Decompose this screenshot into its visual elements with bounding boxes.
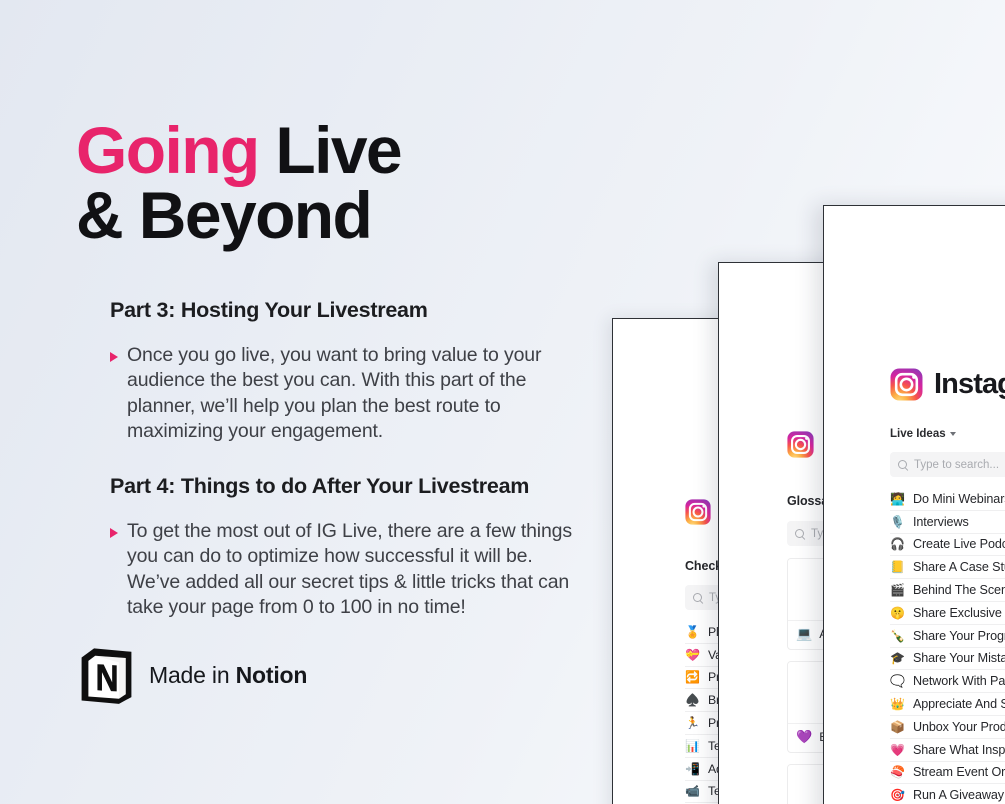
chevron-down-icon <box>950 432 956 436</box>
list-item-label: Stream Event Or Outing <box>913 765 1005 779</box>
list-item-label: Share What Inspires You <box>913 743 1005 757</box>
list-item[interactable]: 🗨️Network With Partners <box>890 670 1005 693</box>
instagram-icon <box>890 368 923 401</box>
list-item-label: Share Your Progress <box>913 629 1005 643</box>
list-item[interactable]: 🎙️Interviews <box>890 511 1005 534</box>
item-emoji-icon: 🏃 <box>685 717 700 729</box>
section-body-text: Once you go live, you want to bring valu… <box>127 343 587 445</box>
item-emoji-icon: 💝 <box>685 649 700 661</box>
list-item-label: Run A Giveaway <box>913 788 1004 802</box>
item-emoji-icon: 📦 <box>890 721 905 733</box>
list-item[interactable]: 🎯Run A Giveaway <box>890 784 1005 804</box>
notion-badge-prefix: Made in <box>149 662 236 688</box>
list-item[interactable]: 🎓Share Your Mistakes <box>890 648 1005 671</box>
list-item-label: Unbox Your Product <box>913 720 1005 734</box>
item-emoji-icon: 🎯 <box>890 789 905 801</box>
made-in-notion-badge: Made in Notion <box>78 645 307 705</box>
list-item[interactable]: 🎧Create Live Podcast <box>890 534 1005 557</box>
page-title-line-2: & Beyond <box>76 183 401 248</box>
page-title-rest: Live <box>259 113 401 187</box>
item-emoji-icon: 🎧 <box>890 538 905 550</box>
section-part-4: Part 4: Things to do After Your Livestre… <box>110 474 610 621</box>
item-emoji-icon: 🎙️ <box>890 516 905 528</box>
notion-logo-icon <box>78 645 135 705</box>
instagram-icon <box>685 499 711 525</box>
list-item-label: Interviews <box>913 515 969 529</box>
list-item[interactable]: 🤫Share Exclusive Content <box>890 602 1005 625</box>
page-title-accent-word: Going <box>76 113 259 187</box>
item-emoji-icon: 📹 <box>685 785 700 797</box>
triangle-bullet-icon <box>110 528 118 538</box>
left-content-column: Going Live & Beyond Part 3: Hosting Your… <box>0 0 620 804</box>
section-heading: Part 3: Hosting Your Livestream <box>110 298 610 324</box>
item-emoji-icon: ♠️ <box>685 694 700 706</box>
list-item[interactable]: 🎬Behind The Scenes <box>890 579 1005 602</box>
item-emoji-icon: 🍾 <box>890 630 905 642</box>
list-item-label: Network With Partners <box>913 674 1005 688</box>
item-emoji-icon: 📊 <box>685 740 700 752</box>
list-item[interactable]: 🍣Stream Event Or Outing <box>890 762 1005 785</box>
item-emoji-icon: 🧑‍💻 <box>890 493 905 505</box>
live-ideas-items: 🧑‍💻Do Mini Webinars 🎙️Interviews 🎧Create… <box>824 488 1005 804</box>
list-item[interactable]: 🧑‍💻Do Mini Webinars <box>890 488 1005 511</box>
instagram-icon <box>787 431 814 458</box>
notion-badge-text: Made in Notion <box>149 662 307 689</box>
item-emoji-icon: 🎬 <box>890 584 905 596</box>
gallery-item-emoji-icon: 💻 <box>796 626 812 642</box>
item-emoji-icon: 👑 <box>890 698 905 710</box>
list-item-label: Share Your Mistakes <box>913 651 1005 665</box>
list-item-label: Do Mini Webinars <box>913 492 1005 506</box>
poster-canvas: Checklist Type to search... 🏅Plan Your C… <box>0 0 1005 804</box>
live-ideas-search-input[interactable]: Type to search... <box>890 452 1005 477</box>
list-item[interactable]: 👑Appreciate And Share <box>890 693 1005 716</box>
gallery-item-emoji-icon: 💜 <box>796 729 812 745</box>
list-item[interactable]: 🍾Share Your Progress <box>890 625 1005 648</box>
database-name: Live Ideas <box>890 428 946 440</box>
list-item-label: Share A Case Study <box>913 560 1005 574</box>
item-emoji-icon: 🏅 <box>685 626 700 638</box>
list-item-label: Create Live Podcast <box>913 537 1005 551</box>
item-emoji-icon: 🗨️ <box>890 675 905 687</box>
search-icon <box>795 529 804 538</box>
item-emoji-icon: 📲 <box>685 763 700 775</box>
live-ideas-card-title: Instagram <box>934 368 1005 401</box>
search-icon <box>693 593 702 602</box>
list-item-label: Appreciate And Share <box>913 697 1005 711</box>
live-ideas-database-selector[interactable]: Live Ideas <box>824 428 1005 440</box>
triangle-bullet-icon <box>110 352 118 362</box>
live-ideas-search-placeholder: Type to search... <box>914 459 999 471</box>
item-emoji-icon: 📒 <box>890 561 905 573</box>
section-body-text: To get the most out of IG Live, there ar… <box>127 519 587 621</box>
list-item[interactable]: 📦Unbox Your Product <box>890 716 1005 739</box>
list-item[interactable]: 📒Share A Case Study <box>890 556 1005 579</box>
list-item[interactable]: 💗Share What Inspires You <box>890 739 1005 762</box>
item-emoji-icon: 🔁 <box>685 671 700 683</box>
list-item-label: Behind The Scenes <box>913 583 1005 597</box>
item-emoji-icon: 💗 <box>890 744 905 756</box>
item-emoji-icon: 🍣 <box>890 766 905 778</box>
live-ideas-card-header: Instagram <box>824 368 1005 401</box>
page-title: Going Live & Beyond <box>76 118 401 249</box>
live-ideas-card[interactable]: IG LIVE ● <box>823 205 1005 804</box>
search-icon <box>898 460 907 469</box>
section-heading: Part 4: Things to do After Your Livestre… <box>110 474 610 500</box>
notion-badge-brand: Notion <box>236 662 308 688</box>
item-emoji-icon: 🎓 <box>890 652 905 664</box>
section-part-3: Part 3: Hosting Your Livestream Once you… <box>110 298 610 445</box>
item-emoji-icon: 🤫 <box>890 607 905 619</box>
list-item-label: Share Exclusive Content <box>913 606 1005 620</box>
